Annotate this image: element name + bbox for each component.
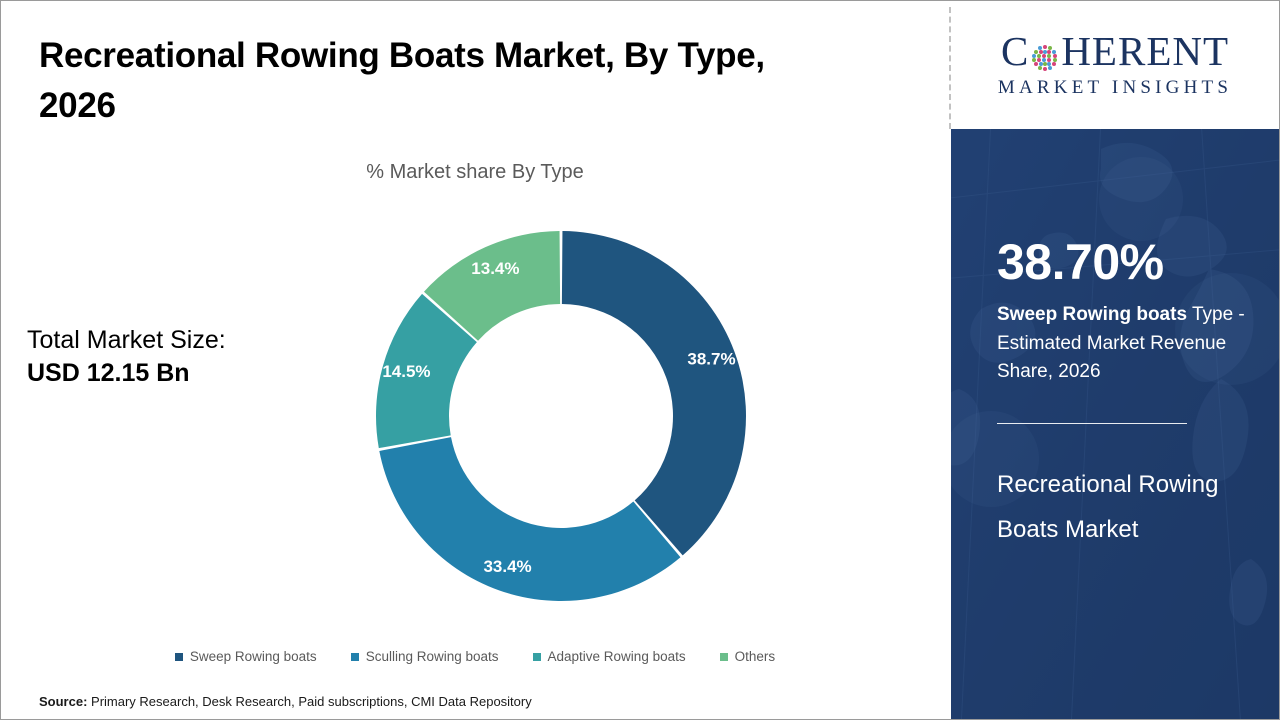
donut-slice-label: 38.7% <box>687 350 735 369</box>
source-label: Source: <box>39 694 87 709</box>
legend-swatch-icon <box>533 653 541 661</box>
donut-slice-label: 33.4% <box>483 557 531 576</box>
chart-subtitle: % Market share By Type <box>1 161 949 184</box>
sidebar-divider <box>997 423 1187 424</box>
infographic-page: Recreational Rowing Boats Market, By Typ… <box>0 0 1280 720</box>
logo-tagline: MARKET INSIGHTS <box>998 77 1232 99</box>
legend-item[interactable]: Adaptive Rowing boats <box>533 649 686 664</box>
sidebar-market-name: Recreational Rowing Boats Market <box>997 462 1263 553</box>
main-chart-panel: Recreational Rowing Boats Market, By Typ… <box>1 1 949 719</box>
dotted-globe-icon <box>1030 39 1060 69</box>
stat-value: 38.70% <box>997 237 1263 287</box>
stat-description: Sweep Rowing boats Type - Estimated Mark… <box>997 301 1263 387</box>
sidebar-stat-panel: 38.70% Sweep Rowing boats Type - Estimat… <box>951 129 1279 719</box>
donut-chart-svg: 38.7%33.4%14.5%13.4% <box>361 216 761 616</box>
legend-label: Others <box>735 649 776 664</box>
donut-slice-label: 14.5% <box>382 362 430 381</box>
stat-description-highlight: Sweep Rowing boats <box>997 304 1187 325</box>
dotted-globe-svg <box>1030 43 1060 73</box>
donut-slice-label: 13.4% <box>471 259 519 278</box>
legend-swatch-icon <box>351 653 359 661</box>
donut-slice <box>562 231 746 555</box>
legend-swatch-icon <box>175 653 183 661</box>
total-market-size-block: Total Market Size: USD 12.15 Bn <box>27 324 327 389</box>
donut-slice <box>379 437 680 601</box>
chart-legend: Sweep Rowing boatsSculling Rowing boatsA… <box>1 649 949 664</box>
logo-wordmark: C <box>1001 31 1229 72</box>
legend-label: Sculling Rowing boats <box>366 649 499 664</box>
source-footer: Source: Primary Research, Desk Research,… <box>39 694 532 709</box>
logo-word-herent: HERENT <box>1061 31 1229 72</box>
company-logo[interactable]: C <box>951 1 1279 129</box>
source-text: Primary Research, Desk Research, Paid su… <box>87 694 531 709</box>
legend-label: Adaptive Rowing boats <box>548 649 686 664</box>
legend-item[interactable]: Others <box>720 649 776 664</box>
logo-letter-c: C <box>1001 31 1029 72</box>
legend-item[interactable]: Sculling Rowing boats <box>351 649 499 664</box>
sidebar-content: 38.70% Sweep Rowing boats Type - Estimat… <box>997 129 1263 553</box>
donut-chart: 38.7%33.4%14.5%13.4% <box>361 216 761 616</box>
donut-slice-group <box>376 231 746 601</box>
legend-item[interactable]: Sweep Rowing boats <box>175 649 317 664</box>
page-title: Recreational Rowing Boats Market, By Typ… <box>39 31 839 130</box>
total-market-size-label: Total Market Size: <box>27 324 327 357</box>
legend-swatch-icon <box>720 653 728 661</box>
brand-sidebar: C <box>951 1 1279 719</box>
total-market-size-value: USD 12.15 Bn <box>27 357 327 390</box>
legend-label: Sweep Rowing boats <box>190 649 317 664</box>
